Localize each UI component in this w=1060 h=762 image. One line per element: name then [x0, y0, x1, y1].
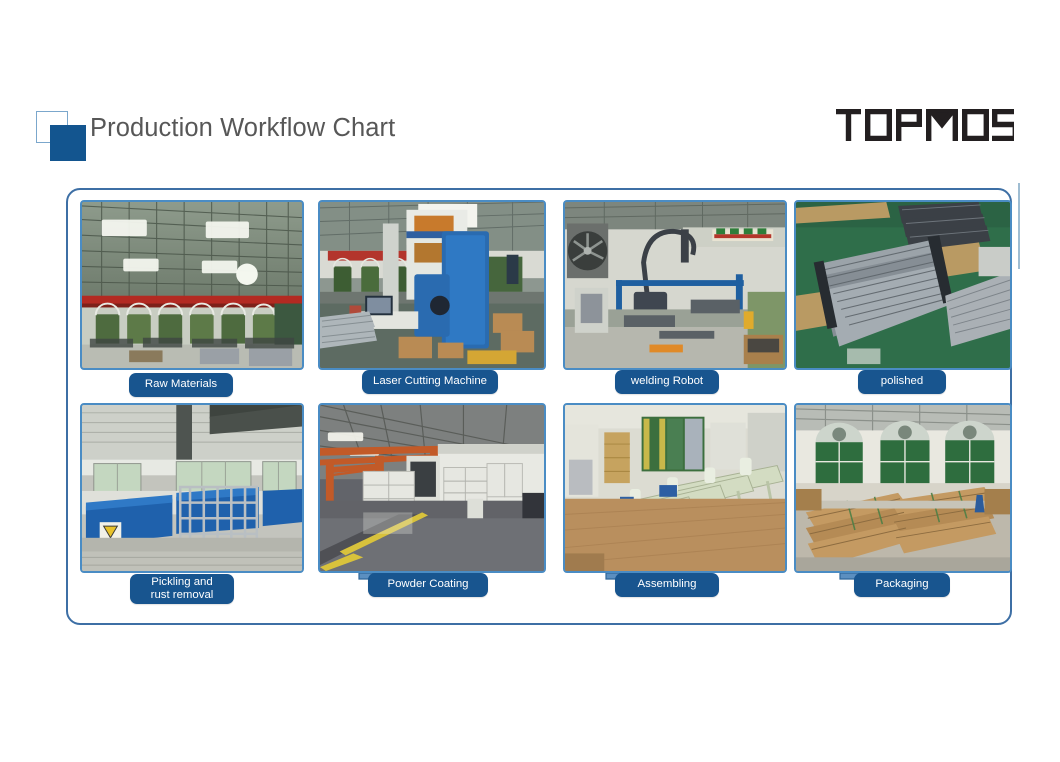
workflow-step-raw-materials[interactable]: Raw Materials — [74, 196, 306, 401]
packaged-cartons-warehouse-photo — [794, 403, 1012, 573]
step-label-pickling[interactable]: Pickling and rust removal — [130, 574, 234, 604]
workflow-step-assembling[interactable]: Assembling — [557, 399, 789, 604]
workflow-container: Raw Materials — [66, 188, 1012, 625]
powder-coating-line-photo — [318, 403, 546, 573]
two-squares-icon — [36, 111, 88, 163]
workflow-step-packaging[interactable]: Packaging — [788, 399, 1014, 604]
step-label-polished[interactable]: polished — [858, 370, 946, 394]
step-label-packaging[interactable]: Packaging — [854, 573, 950, 597]
step-label-assembling[interactable]: Assembling — [615, 573, 719, 597]
factory-workshop-interior-photo — [80, 200, 304, 370]
step-label-raw-materials[interactable]: Raw Materials — [129, 373, 233, 397]
polished-metal-parts-photo — [794, 200, 1012, 370]
blue-laser-cutting-machine-photo — [318, 200, 546, 370]
step-label-laser-cutting[interactable]: Laser Cutting Machine — [362, 370, 498, 394]
workflow-step-powder-coating[interactable]: Powder Coating — [312, 399, 550, 604]
welding-robot-cell-photo — [563, 200, 787, 370]
step-label-welding-robot[interactable]: welding Robot — [615, 370, 719, 394]
slide-header: Production Workflow Chart — [0, 95, 1060, 175]
workflow-step-welding-robot[interactable]: welding Robot — [557, 196, 789, 401]
header-divider — [1018, 183, 1020, 269]
workflow-row-1: Raw Materials — [68, 196, 1014, 401]
workflow-step-polished[interactable]: polished — [788, 196, 1014, 401]
workflow-step-pickling[interactable]: Pickling and rust removal — [74, 399, 306, 604]
workflow-step-laser-cutting[interactable]: Laser Cutting Machine — [312, 196, 550, 401]
slide-canvas: Production Workflow Chart — [0, 0, 1060, 762]
blue-pickling-tanks-photo — [80, 403, 304, 573]
assembly-workshop-photo — [563, 403, 787, 573]
square-filled-shape — [50, 125, 86, 161]
workflow-row-2: Pickling and rust removal — [68, 399, 1014, 604]
step-label-powder-coating[interactable]: Powder Coating — [368, 573, 488, 597]
brand-logo — [836, 107, 1014, 153]
page-title: Production Workflow Chart — [90, 114, 395, 143]
